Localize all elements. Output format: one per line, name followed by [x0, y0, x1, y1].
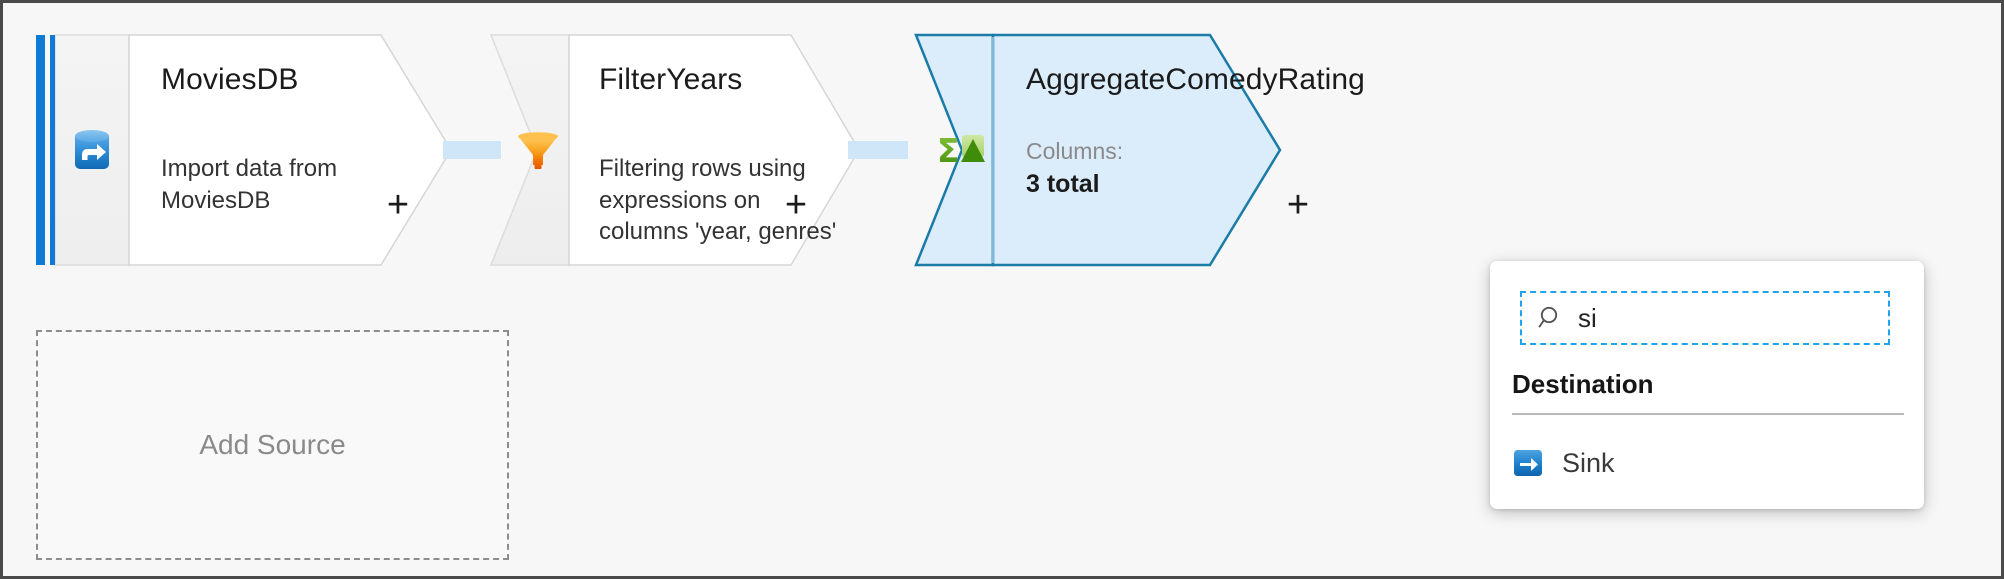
search-icon [1538, 305, 1564, 331]
flow-node-aggregate[interactable]: Σ AggregateComedyRating Columns: 3 total… [898, 35, 1398, 265]
popup-item-label: Sink [1562, 448, 1615, 479]
search-input[interactable] [1578, 303, 1858, 334]
aggregate-columns-value: 3 total [1026, 170, 1100, 199]
source-node-description: Import data from MoviesDB [161, 153, 406, 216]
add-step-after-aggregate-button[interactable]: + [1281, 190, 1315, 224]
svg-text:Σ: Σ [937, 131, 960, 170]
filter-node-title: FilterYears [599, 63, 742, 97]
flow-canvas[interactable]: MoviesDB Import data from MoviesDB + [3, 3, 2001, 576]
popup-search-box[interactable] [1520, 291, 1890, 345]
source-accent-bar-thin [50, 35, 55, 265]
add-source-placeholder[interactable]: Add Source [36, 330, 509, 560]
source-accent-bars [36, 35, 56, 265]
add-step-popup: Destination [1490, 261, 1924, 509]
add-source-label: Add Source [199, 429, 345, 461]
popup-section-title: Destination [1512, 369, 1654, 400]
data-flow-canvas-screen: MoviesDB Import data from MoviesDB + [0, 0, 2004, 579]
sigma-aggregate-icon: Σ [936, 125, 990, 175]
source-node-title: MoviesDB [161, 63, 299, 97]
source-accent-bar-thick [36, 35, 45, 265]
sink-icon [1512, 447, 1544, 479]
popup-item-sink[interactable]: Sink [1512, 437, 1904, 489]
add-step-after-source-button[interactable]: + [381, 190, 415, 224]
aggregate-node-title: AggregateComedyRating [1026, 63, 1365, 97]
aggregate-columns-label: Columns: [1026, 138, 1123, 165]
flow-node-source[interactable]: MoviesDB Import data from MoviesDB + [36, 35, 506, 265]
database-import-icon [66, 124, 118, 176]
add-step-after-filter-button[interactable]: + [779, 190, 813, 224]
funnel-icon [513, 125, 563, 175]
popup-divider [1512, 413, 1904, 415]
filter-node-description: Filtering rows using expressions on colu… [599, 153, 854, 248]
